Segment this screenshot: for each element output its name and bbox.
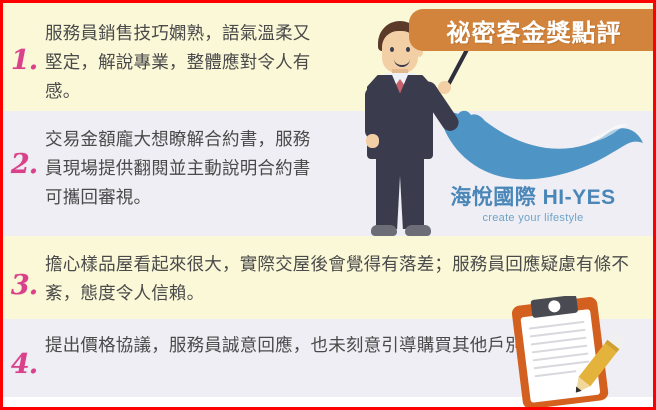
item-text: 服務員銷售技巧嫻熟，語氣溫柔又堅定，解說專業，整體應對令人有感。 [45,19,317,106]
left-hand [366,134,379,148]
brand-name: 海悅國際 HI-YES [433,186,633,209]
brand-logo: 海悅國際 HI-YES create your lifestyle [433,186,633,224]
item-number: 1. [3,47,45,74]
item-number: 3. [3,272,45,299]
header-banner: 祕密客金獎點評 [409,9,656,51]
list-item: 1. 服務員銷售技巧嫻熟，語氣溫柔又堅定，解說專業，整體應對令人有感。 [3,19,317,106]
item-text: 交易金額龐大想瞭解合約書，服務員現場提供翻閱並主動說明合約書可攜回審視。 [45,125,327,212]
right-eye [406,47,410,52]
header-banner-label: 祕密客金獎點評 [447,13,622,48]
left-arm [365,87,381,139]
clipboard-icon [503,296,633,408]
brand-tagline: create your lifestyle [433,212,633,224]
left-eye [390,47,394,52]
legs-shape [376,153,424,229]
item-number: 2. [3,151,45,178]
list-item: 2. 交易金額龐大想瞭解合約書，服務員現場提供翻閱並主動說明合約書可攜回審視。 [3,125,327,212]
right-hand [438,81,451,94]
left-shoe [371,225,397,236]
infographic-poster: 祕密客金獎點評 海悅國際 HI-YES create your lifestyl… [0,0,656,410]
item-number: 4. [3,351,45,378]
right-shoe [405,225,431,236]
